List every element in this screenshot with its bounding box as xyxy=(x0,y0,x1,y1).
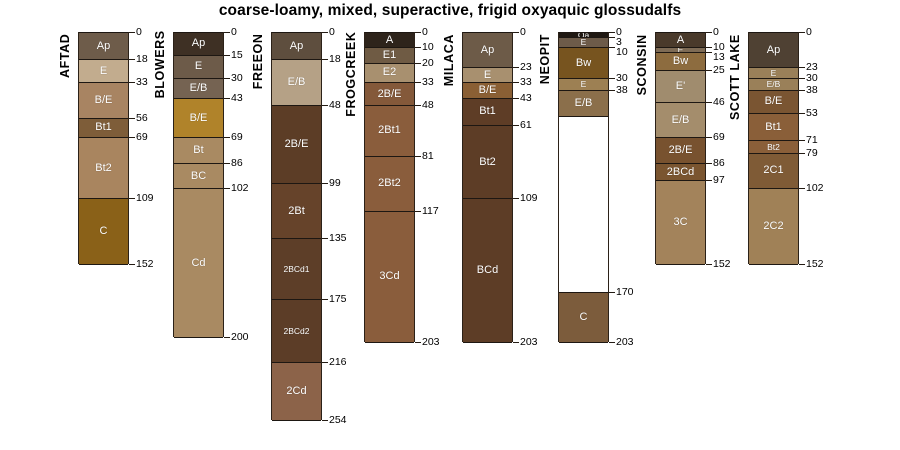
horizon-label: E/B xyxy=(190,83,208,94)
horizon-label: Cd xyxy=(191,258,205,269)
profile-name-label: SCONSIN xyxy=(635,34,651,98)
depth-label: 18 xyxy=(329,54,341,65)
depth-tick xyxy=(513,67,519,68)
depth-label: 25 xyxy=(713,65,725,76)
horizon-band: Ap xyxy=(463,32,512,68)
depth-tick xyxy=(799,90,805,91)
horizon-label: 2C2 xyxy=(763,221,783,232)
depth-label: 43 xyxy=(520,93,532,104)
horizon-label: Bt2 xyxy=(95,163,112,174)
depth-tick xyxy=(799,78,805,79)
horizon-label: E xyxy=(771,69,777,78)
depth-tick xyxy=(799,264,805,265)
horizon-label: E/B xyxy=(575,98,593,109)
horizon-band: E' xyxy=(656,70,705,103)
depth-tick xyxy=(224,98,230,99)
profile-name-label: AFTAD xyxy=(58,34,74,80)
depth-label: 152 xyxy=(806,259,824,270)
horizon-band: C xyxy=(79,198,128,265)
depth-tick xyxy=(415,63,421,64)
depth-tick xyxy=(799,32,805,33)
profile-column: ApEE/BB/EBtBCCd xyxy=(173,32,224,337)
depth-label: 33 xyxy=(520,77,532,88)
depth-tick xyxy=(799,188,805,189)
horizon-label: Bt1 xyxy=(95,122,112,133)
horizon-label: Bt2 xyxy=(479,157,496,168)
depth-tick xyxy=(129,82,135,83)
horizon-band: Ap xyxy=(174,32,223,56)
depth-label: 203 xyxy=(422,337,440,348)
depth-label: 69 xyxy=(231,132,243,143)
horizon-band: 3C xyxy=(656,180,705,265)
horizon-label: B/E xyxy=(479,85,497,96)
depth-tick xyxy=(706,102,712,103)
depth-label: 0 xyxy=(329,27,335,38)
horizon-band: Bt xyxy=(174,137,223,164)
depth-label: 15 xyxy=(231,50,243,61)
horizon-label: E/B xyxy=(288,77,306,88)
depth-tick xyxy=(706,264,712,265)
horizon-label: E2 xyxy=(383,67,396,78)
depth-label: 10 xyxy=(616,47,628,58)
horizon-band: E xyxy=(559,78,608,91)
depth-label: 56 xyxy=(136,113,148,124)
depth-label: 23 xyxy=(520,62,532,73)
horizon-label: Ap xyxy=(192,38,205,49)
depth-tick xyxy=(415,211,421,212)
depth-tick xyxy=(129,137,135,138)
horizon-label: Bt1 xyxy=(479,106,496,117)
horizon-band: E/B xyxy=(749,78,798,91)
depth-tick xyxy=(322,299,328,300)
depth-label: 43 xyxy=(231,93,243,104)
horizon-label: Bt xyxy=(193,145,203,156)
horizon-label: E xyxy=(195,61,202,72)
horizon-band: Bt2 xyxy=(79,137,128,199)
horizon-band: 2BCd1 xyxy=(272,238,321,300)
depth-label: 109 xyxy=(136,193,154,204)
depth-tick xyxy=(706,47,712,48)
depth-tick xyxy=(322,420,328,421)
depth-tick xyxy=(129,264,135,265)
depth-tick xyxy=(129,118,135,119)
horizon-label: E/B xyxy=(767,80,781,89)
depth-label: 53 xyxy=(806,108,818,119)
depth-tick xyxy=(322,362,328,363)
horizon-label: E xyxy=(484,70,491,81)
depth-tick xyxy=(224,55,230,56)
profile-name-label: MILACA xyxy=(442,34,458,89)
depth-tick xyxy=(129,198,135,199)
depth-label: 0 xyxy=(713,27,719,38)
horizon-label: 3Cd xyxy=(379,271,399,282)
depth-label: 30 xyxy=(231,73,243,84)
depth-tick xyxy=(415,47,421,48)
horizon-label: Ap xyxy=(767,45,780,56)
depth-tick xyxy=(415,156,421,157)
depth-label: 0 xyxy=(422,27,428,38)
depth-tick xyxy=(129,32,135,33)
horizon-band: E1 xyxy=(365,47,414,63)
horizon-label: BC xyxy=(191,171,206,182)
depth-label: 10 xyxy=(422,42,434,53)
depth-label: 48 xyxy=(329,100,341,111)
depth-tick xyxy=(513,82,519,83)
horizon-band: A xyxy=(656,32,705,48)
depth-label: 33 xyxy=(136,77,148,88)
depth-label: 102 xyxy=(806,183,824,194)
horizon-band: Bt2 xyxy=(463,125,512,199)
depth-tick xyxy=(706,180,712,181)
horizon-band: E/B xyxy=(174,78,223,99)
depth-tick xyxy=(609,90,615,91)
depth-tick xyxy=(322,32,328,33)
depth-tick xyxy=(609,292,615,293)
depth-label: 152 xyxy=(136,259,154,270)
depth-tick xyxy=(706,137,712,138)
depth-label: 109 xyxy=(520,193,538,204)
depth-label: 38 xyxy=(616,85,628,96)
depth-tick xyxy=(322,105,328,106)
depth-tick xyxy=(706,70,712,71)
depth-label: 71 xyxy=(806,135,818,146)
horizon-band: E/B xyxy=(272,59,321,106)
depth-tick xyxy=(322,183,328,184)
horizon-label: 2BCd2 xyxy=(284,327,310,336)
horizon-label: C xyxy=(580,312,588,323)
horizon-band: Cd xyxy=(174,188,223,339)
horizon-label: E' xyxy=(676,81,685,92)
depth-label: 69 xyxy=(136,132,148,143)
depth-tick xyxy=(322,59,328,60)
horizon-band: E xyxy=(79,59,128,83)
horizon-band: B/E xyxy=(174,98,223,139)
depth-label: 48 xyxy=(422,100,434,111)
depth-label: 170 xyxy=(616,287,634,298)
horizon-label: E xyxy=(100,66,107,77)
depth-tick xyxy=(513,125,519,126)
horizon-label: 3C xyxy=(673,217,687,228)
horizon-band: Bt2 xyxy=(749,140,798,153)
horizon-band xyxy=(559,116,608,293)
horizon-band: E/B xyxy=(656,102,705,138)
depth-tick xyxy=(609,78,615,79)
horizon-label: Bt2 xyxy=(767,143,780,152)
horizon-band: 2B/E xyxy=(272,105,321,184)
horizon-band: 2BCd2 xyxy=(272,299,321,363)
depth-label: 175 xyxy=(329,294,347,305)
depth-tick xyxy=(799,140,805,141)
depth-tick xyxy=(415,82,421,83)
depth-label: 23 xyxy=(806,62,818,73)
horizon-band: BCd xyxy=(463,198,512,343)
horizon-band: B/E xyxy=(749,90,798,114)
depth-tick xyxy=(609,342,615,343)
depth-tick xyxy=(224,78,230,79)
horizon-label: A xyxy=(677,35,684,46)
horizon-band: Bt1 xyxy=(463,98,512,126)
depth-tick xyxy=(609,47,615,48)
depth-label: 203 xyxy=(616,337,634,348)
depth-label: 30 xyxy=(806,73,818,84)
profile-column: ApE/B2B/E2Bt2BCd12BCd22Cd xyxy=(271,32,322,420)
depth-label: 102 xyxy=(231,183,249,194)
horizon-label: B/E xyxy=(190,113,208,124)
depth-tick xyxy=(609,32,615,33)
horizon-band: Ap xyxy=(749,32,798,68)
horizon-band: B/E xyxy=(463,82,512,98)
depth-label: 200 xyxy=(231,332,249,343)
horizon-label: 2Bt xyxy=(288,206,305,217)
depth-tick xyxy=(224,188,230,189)
depth-label: 81 xyxy=(422,151,434,162)
depth-tick xyxy=(129,59,135,60)
depth-label: 38 xyxy=(806,85,818,96)
depth-label: 117 xyxy=(422,206,439,217)
horizon-label: 2Bt2 xyxy=(378,178,401,189)
horizon-band: 2Bt1 xyxy=(365,105,414,156)
horizon-band: Bw xyxy=(559,47,608,79)
horizon-label: Ap xyxy=(97,41,110,52)
depth-label: 79 xyxy=(806,148,818,159)
profile-column: AE1E22B/E2Bt12Bt23Cd xyxy=(364,32,415,342)
depth-tick xyxy=(706,163,712,164)
horizon-label: 2Cd xyxy=(286,386,306,397)
depth-label: 0 xyxy=(806,27,812,38)
profile-name-label: FROGCREEK xyxy=(344,34,360,117)
depth-label: 61 xyxy=(520,120,532,131)
horizon-band: E2 xyxy=(365,63,414,84)
horizon-label: E1 xyxy=(383,50,396,61)
horizon-band: C xyxy=(559,292,608,343)
depth-tick xyxy=(415,105,421,106)
depth-tick xyxy=(224,163,230,164)
horizon-band: Ap xyxy=(79,32,128,60)
depth-tick xyxy=(706,32,712,33)
page-title: coarse-loamy, mixed, superactive, frigid… xyxy=(0,2,900,20)
depth-label: 0 xyxy=(136,27,142,38)
depth-tick xyxy=(609,37,615,38)
depth-label: 152 xyxy=(713,259,731,270)
horizon-band: 2C2 xyxy=(749,188,798,265)
horizon-band: 2BCd xyxy=(656,163,705,181)
depth-tick xyxy=(224,337,230,338)
depth-tick xyxy=(322,238,328,239)
depth-label: 46 xyxy=(713,97,725,108)
depth-tick xyxy=(224,137,230,138)
depth-label: 203 xyxy=(520,337,538,348)
profile-column: AEBwE'E/B2B/E2BCd3C xyxy=(655,32,706,264)
horizon-band: 2Cd xyxy=(272,362,321,421)
profile-name-label: SCOTT LAKE xyxy=(728,34,744,126)
horizon-label: B/E xyxy=(765,96,783,107)
horizon-band: 2Bt2 xyxy=(365,156,414,212)
horizon-label: Ap xyxy=(481,45,494,56)
depth-label: 97 xyxy=(713,175,725,186)
horizon-label: B/E xyxy=(95,95,113,106)
depth-label: 0 xyxy=(520,27,526,38)
horizon-label: C xyxy=(100,226,108,237)
depth-tick xyxy=(224,32,230,33)
horizon-label: E xyxy=(581,38,587,47)
depth-label: 135 xyxy=(329,233,347,244)
horizon-band: E/B xyxy=(559,90,608,117)
depth-tick xyxy=(415,342,421,343)
horizon-label: Ap xyxy=(290,41,303,52)
depth-label: 0 xyxy=(231,27,237,38)
depth-label: 20 xyxy=(422,58,434,69)
depth-label: 33 xyxy=(422,77,434,88)
horizon-label: 2B/E xyxy=(378,89,402,100)
depth-tick xyxy=(799,113,805,114)
horizon-band: 3Cd xyxy=(365,211,414,343)
depth-label: 18 xyxy=(136,54,148,65)
profile-column: OaEBwEE/BC xyxy=(558,32,609,342)
depth-label: 86 xyxy=(231,158,243,169)
horizon-label: Bw xyxy=(576,58,591,69)
horizon-label: 2C1 xyxy=(763,165,783,176)
depth-tick xyxy=(513,198,519,199)
profile-name-label: BLOWERS xyxy=(153,34,169,98)
horizon-band: A xyxy=(365,32,414,48)
horizon-band: Ap xyxy=(272,32,321,60)
depth-label: 254 xyxy=(329,415,347,426)
horizon-band: 2B/E xyxy=(365,82,414,106)
horizon-band: 2B/E xyxy=(656,137,705,164)
horizon-band: Bw xyxy=(656,52,705,71)
horizon-band: 2Bt xyxy=(272,183,321,239)
horizon-band: Bt1 xyxy=(79,118,128,139)
horizon-band: BC xyxy=(174,163,223,188)
horizon-label: Bt1 xyxy=(765,122,782,133)
horizon-label: BCd xyxy=(477,265,498,276)
depth-tick xyxy=(799,153,805,154)
profile-name-label: NEOPIT xyxy=(538,34,554,89)
horizon-label: E xyxy=(581,80,587,89)
horizon-label: 2B/E xyxy=(669,145,693,156)
profile-column: ApEB/EBt1Bt2C xyxy=(78,32,129,264)
horizon-label: 2Bt1 xyxy=(378,125,401,136)
profile-column: ApEE/BB/EBt1Bt22C12C2 xyxy=(748,32,799,264)
depth-tick xyxy=(706,52,712,53)
horizon-band: E xyxy=(174,55,223,79)
depth-label: 13 xyxy=(713,52,725,63)
depth-label: 86 xyxy=(713,158,725,169)
horizon-band: Bt1 xyxy=(749,113,798,141)
depth-label: 69 xyxy=(713,132,725,143)
depth-tick xyxy=(513,342,519,343)
depth-tick xyxy=(513,98,519,99)
horizon-label: 2BCd1 xyxy=(284,265,310,274)
depth-label: 99 xyxy=(329,178,341,189)
horizon-band: B/E xyxy=(79,82,128,118)
horizon-band: 2C1 xyxy=(749,153,798,189)
horizon-label: 2BCd xyxy=(667,167,695,178)
horizon-band: E xyxy=(463,67,512,83)
depth-label: 30 xyxy=(616,73,628,84)
depth-label: 216 xyxy=(329,357,347,368)
depth-tick xyxy=(799,67,805,68)
horizon-label: Bw xyxy=(673,56,688,67)
horizon-label: 2B/E xyxy=(285,139,309,150)
horizon-label: E/B xyxy=(672,115,690,126)
horizon-label: A xyxy=(386,35,393,46)
profile-column: ApEB/EBt1Bt2BCd xyxy=(462,32,513,342)
depth-tick xyxy=(513,32,519,33)
depth-tick xyxy=(415,32,421,33)
profile-name-label: FREEON xyxy=(251,34,267,89)
